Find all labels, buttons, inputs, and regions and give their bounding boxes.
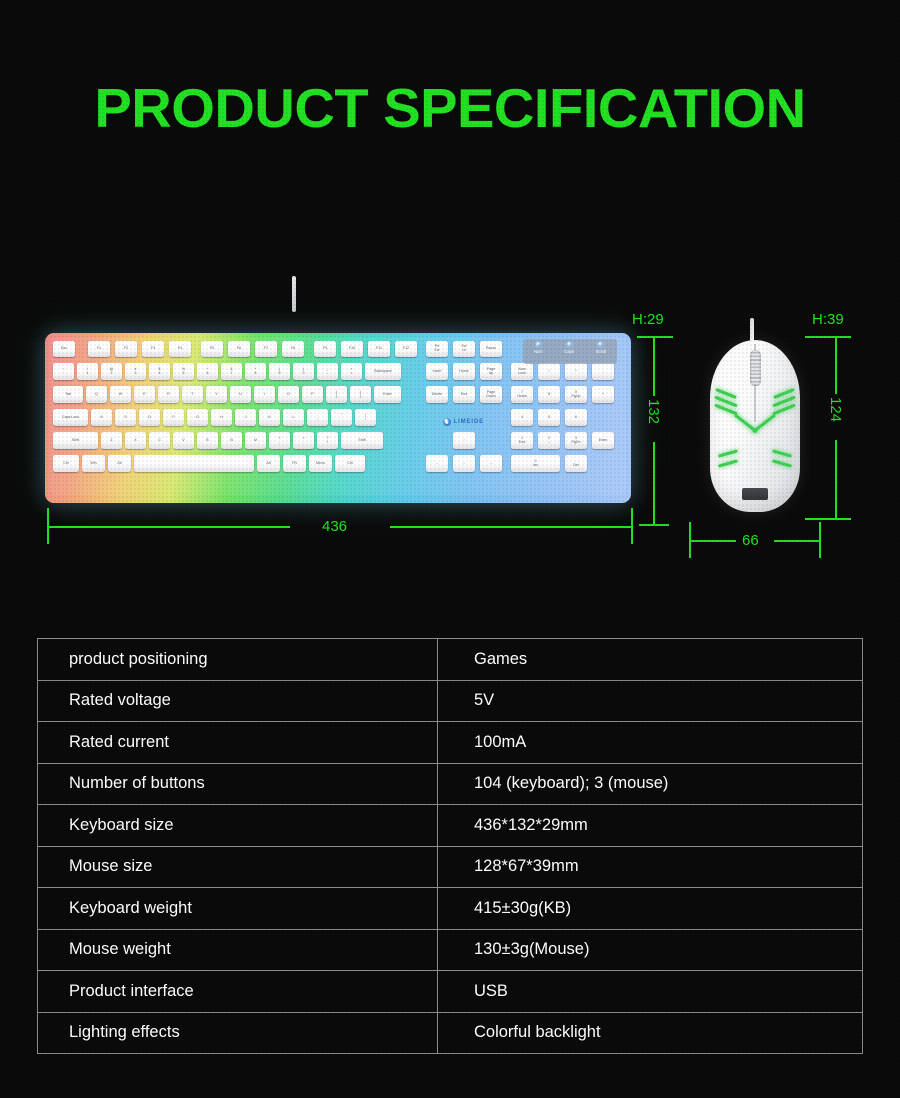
kb-depth-label: 132 [645,399,662,424]
indicator-label: Caps [564,349,574,354]
kb-width-label: 436 [322,518,347,535]
spec-label-cell: Keyboard size [38,805,438,847]
keyboard-key[interactable]: Ctrl [335,455,365,472]
keyboard-key[interactable]: ← [426,455,448,472]
keyboard-key[interactable]: Tab [53,386,83,403]
spec-value-cell: 415±30g(KB) [438,888,863,930]
keyboard-key[interactable]: 5 [538,409,560,426]
keyboard-key[interactable]: Win [82,455,105,472]
table-row: Mouse weight130±3g(Mouse) [38,929,863,971]
brand-logo-text: LIMEIDE [454,419,485,425]
mouse-stripe-lower-left-1 [718,449,738,457]
keyboard-key[interactable]: Prt Scr [426,341,448,357]
mouse-height-dim-line [805,336,851,338]
table-row: Rated voltage5V [38,680,863,722]
keyboard-key[interactable]: + = [341,363,362,380]
mouse-brand-badge [742,488,768,500]
keyboard-key[interactable]: Ctrl [53,455,79,472]
spec-value-cell: Games [438,639,863,681]
mouse-stripe-lower-right-2 [772,459,792,467]
spec-value-cell: 104 (keyboard); 3 (mouse) [438,763,863,805]
keyboard-key[interactable]: Enter [374,386,401,403]
spec-value-cell: 5V [438,680,863,722]
keyboard-key[interactable]: _ - [317,363,338,380]
keyboard-key[interactable]: ^ 6 [197,363,218,380]
mouse-stripe-lower-left-2 [718,459,738,467]
keyboard-key[interactable]: Esc [53,341,75,357]
keyboard-key[interactable]: + [592,386,614,403]
keyboard-key[interactable]: M [245,432,266,449]
keyboard-key[interactable]: ( 9 [269,363,290,380]
keyboard-key[interactable]: End [453,386,475,403]
keyboard-key[interactable]: N [221,432,242,449]
keyboard-key[interactable]: P [302,386,323,403]
indicator-label: Scroll [596,349,606,354]
kb-depth-tick-bottom [639,524,669,526]
spec-label-cell: Number of buttons [38,763,438,805]
keyboard-key[interactable]: ↑ [453,432,475,449]
keyboard-key[interactable]: I [254,386,275,403]
keyboard-key[interactable]: X [125,432,146,449]
keyboard-key[interactable]: Alt [257,455,280,472]
spec-label-cell: Product interface [38,971,438,1013]
keyboard-key[interactable]: Caps Lock [53,409,88,426]
keyboard-key[interactable]: / [538,363,560,380]
kb-height-dim-line [637,336,673,338]
keyboard-key[interactable]: F3 [142,341,164,357]
keyboard-key[interactable]: 0 Ins [511,455,560,472]
keyboard-key[interactable]: Alt [108,455,131,472]
led-icon [536,342,541,347]
keyboard-key[interactable]: C [149,432,170,449]
keyboard-key[interactable]: Insert [426,363,448,380]
keyboard-key[interactable]: FN [283,455,306,472]
keyboard-key[interactable]: F9 [314,341,336,357]
keyboard-key[interactable]: Q [86,386,107,403]
table-row: Product interfaceUSB [38,971,863,1013]
table-row: Mouse size128*67*39mm [38,846,863,888]
keyboard-key[interactable]: B [197,432,218,449]
mouse-depth-label: 124 [827,397,844,422]
spec-value-cell: 130±3g(Mouse) [438,929,863,971]
brand-mark-icon [443,418,451,426]
keyboard-key[interactable]: Enter [592,432,614,449]
table-row: Rated current100mA [38,722,863,764]
keyboard-indicator: Caps [564,342,574,354]
keyboard-key[interactable]: Page Down [480,386,502,403]
keyboard-key[interactable]: D [139,409,160,426]
spec-value-cell: 128*67*39mm [438,846,863,888]
keyboard-key[interactable]: : ; [307,409,328,426]
keyboard-key[interactable]: ? / [317,432,338,449]
spec-label-cell: product positioning [38,639,438,681]
keyboard-key[interactable]: < , [269,432,290,449]
mouse-depth-tick-bottom [805,518,851,520]
kb-height-label: H:29 [632,311,664,328]
keyboard-key[interactable]: Num Lock [511,363,533,380]
specification-table: product positioningGamesRated voltage5VR… [37,638,863,1054]
mouse-scroll-wheel [750,350,761,386]
keyboard-key[interactable]: % 5 [173,363,194,380]
keyboard-key[interactable]: Shift [53,432,98,449]
product-diagram: EscF1F2F3F4F5F6F7F8F9F10F11F12Prt ScrScr… [0,300,900,570]
keyboard-key[interactable]: L [283,409,304,426]
table-row: Keyboard size436*132*29mm [38,805,863,847]
keyboard-key[interactable]: F4 [169,341,191,357]
spec-label-cell: Rated voltage [38,680,438,722]
spec-label-cell: Keyboard weight [38,888,438,930]
spec-label-cell: Rated current [38,722,438,764]
mouse-stripe-lower-right-1 [772,449,792,457]
keyboard-key[interactable]: F10 [341,341,363,357]
mouse-width-label: 66 [742,532,759,549]
table-row: Lighting effectsColorful backlight [38,1012,863,1054]
spec-label-cell: Mouse size [38,846,438,888]
keyboard-key[interactable]: U [230,386,251,403]
keyboard-key[interactable]: @ 2 [101,363,122,380]
mouse-body [710,340,800,512]
keyboard-key[interactable]: F7 [255,341,277,357]
keyboard-cable-icon [292,276,296,312]
keyboard-key[interactable]: - [592,363,614,380]
spec-value-cell: Colorful backlight [438,1012,863,1054]
keyboard-key[interactable]: O [278,386,299,403]
keyboard-key[interactable]: 8 [538,386,560,403]
keyboard-key[interactable]: ! 1 [77,363,98,380]
keyboard-indicator-panel: NumCapsScroll [523,339,617,364]
keyboard-key[interactable]: Page Up [480,363,502,380]
keyboard-indicator: Scroll [596,342,606,354]
mouse-width-tick-left [689,522,691,558]
keyboard-key[interactable]: → [480,455,502,472]
keyboard-image: EscF1F2F3F4F5F6F7F8F9F10F11F12Prt ScrScr… [45,333,631,503]
table-row: Keyboard weight415±30g(KB) [38,888,863,930]
kb-width-tick-left [47,508,49,544]
keyboard-key[interactable]: 7 Home [511,386,533,403]
keyboard-key[interactable]: | \ [355,409,376,426]
keyboard-key[interactable]: } ] [350,386,371,403]
keyboard-key[interactable]: Menu [309,455,332,472]
kb-width-tick-right [631,508,633,544]
keyboard-key[interactable]: 2 ↓ [538,432,560,449]
keyboard-key[interactable]: * 8 [245,363,266,380]
keyboard-key[interactable]: F6 [228,341,250,357]
keyboard-key[interactable]: F11 [368,341,390,357]
keyboard-key[interactable] [134,455,254,472]
keyboard-key[interactable]: R [158,386,179,403]
indicator-label: Num [534,349,543,354]
keyboard-key[interactable]: > . [293,432,314,449]
keyboard-key[interactable]: ~ ` [53,363,74,380]
keyboard-key[interactable]: G [187,409,208,426]
keyboard-key[interactable]: V [173,432,194,449]
keyboard-key[interactable]: T [182,386,203,403]
spec-value-cell: 436*132*29mm [438,805,863,847]
keyboard-key[interactable]: * [565,363,587,380]
keyboard-key[interactable]: F12 [395,341,417,357]
keyboard-key[interactable]: # 3 [125,363,146,380]
led-icon [598,342,603,347]
spec-value-cell: USB [438,971,863,1013]
keyboard-key[interactable]: " ' [331,409,352,426]
table-row: Number of buttons104 (keyboard); 3 (mous… [38,763,863,805]
keyboard-key[interactable]: Z [101,432,122,449]
keyboard-key[interactable]: 1 End [511,432,533,449]
keyboard-key[interactable]: 4 [511,409,533,426]
keyboard-key[interactable]: Pause [480,341,502,357]
mouse-width-tick-right [819,522,821,558]
keyboard-key[interactable]: F5 [201,341,223,357]
keyboard-key[interactable]: K [259,409,280,426]
led-icon [567,342,572,347]
keyboard-key[interactable]: Shift [341,432,383,449]
keyboard-key[interactable]: Delete [426,386,448,403]
keyboard-key[interactable]: & 7 [221,363,242,380]
keyboard-key[interactable]: ↓ [453,455,475,472]
keyboard-indicator: Num [534,342,543,354]
table-row: product positioningGames [38,639,863,681]
page-title: PRODUCT SPECIFICATION [0,76,900,140]
keyboard-key[interactable]: W [110,386,131,403]
spec-label-cell: Lighting effects [38,1012,438,1054]
keyboard-key[interactable]: E [134,386,155,403]
keyboard-key[interactable]: S [115,409,136,426]
keyboard-key[interactable]: { [ [326,386,347,403]
keyboard-key[interactable]: . Del [565,455,587,472]
keyboard-key[interactable]: 9 PgUp [565,386,587,403]
keyboard-key[interactable]: $ 4 [149,363,170,380]
keyboard-key[interactable]: Home [453,363,475,380]
keyboard-key[interactable]: F2 [115,341,137,357]
keyboard-key[interactable]: Scr Lk [453,341,475,357]
keyboard-key[interactable]: ) 0 [293,363,314,380]
keyboard-key[interactable]: F8 [282,341,304,357]
keyboard-key[interactable]: F1 [88,341,110,357]
mouse-image [703,318,807,516]
keyboard-brand-logo: LIMEIDE [443,418,484,426]
keyboard-key[interactable]: F [163,409,184,426]
keyboard-key[interactable]: 3 PgDn [565,432,587,449]
keyboard-key[interactable]: J [235,409,256,426]
keyboard-key[interactable]: Backspace [365,363,401,380]
spec-value-cell: 100mA [438,722,863,764]
spec-label-cell: Mouse weight [38,929,438,971]
keyboard-key[interactable]: H [211,409,232,426]
keyboard-key[interactable]: Y [206,386,227,403]
keyboard-key[interactable]: 6 [565,409,587,426]
keyboard-key[interactable]: A [91,409,112,426]
mouse-height-label: H:39 [812,311,844,328]
